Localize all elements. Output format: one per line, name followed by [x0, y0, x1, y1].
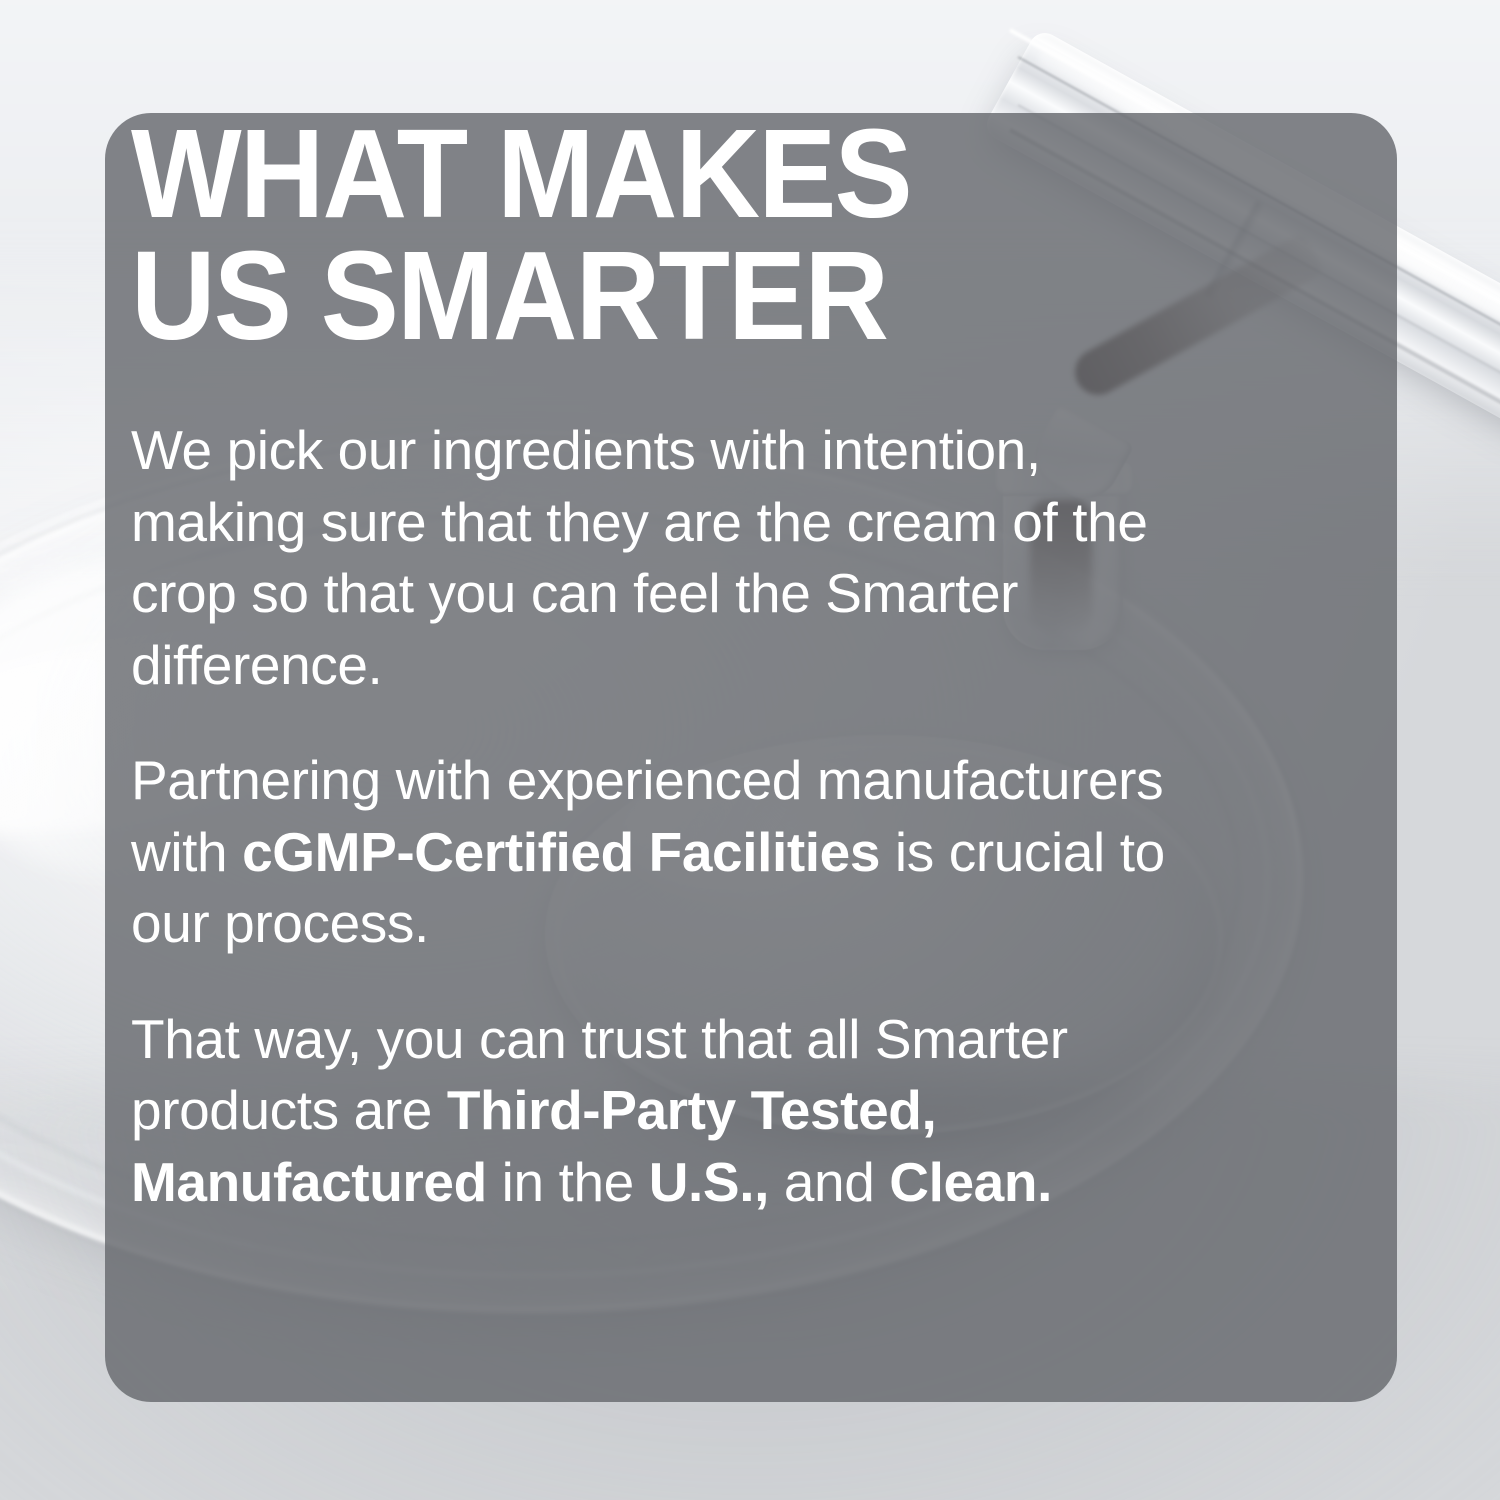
text-run-6: and	[769, 1151, 889, 1213]
text-run-4: in the	[487, 1151, 649, 1213]
text-run-1-bold: Third-Party Tested,	[447, 1079, 937, 1141]
text-run-0: We pick our ingredients with intention, …	[131, 419, 1148, 696]
text-run-5-bold: U.S.,	[649, 1151, 769, 1213]
paragraph-trust: That way, you can trust that all Smarter…	[131, 1004, 1211, 1219]
ad-creative-canvas: WHAT MAKES US SMARTER We pick our ingred…	[0, 0, 1500, 1500]
text-run-3-bold: Manufactured	[131, 1151, 487, 1213]
body-copy: We pick our ingredients with intention, …	[131, 415, 1251, 1218]
page-title: WHAT MAKES US SMARTER	[131, 113, 1173, 357]
text-run-1-bold: cGMP-Certified Facilities	[242, 821, 880, 883]
paragraph-ingredients: We pick our ingredients with intention, …	[131, 415, 1211, 701]
text-run-7-bold: Clean.	[889, 1151, 1052, 1213]
paragraph-manufacturing: Partnering with experienced manufacturer…	[131, 745, 1211, 960]
content-card-body: WHAT MAKES US SMARTER We pick our ingred…	[131, 113, 1251, 1218]
